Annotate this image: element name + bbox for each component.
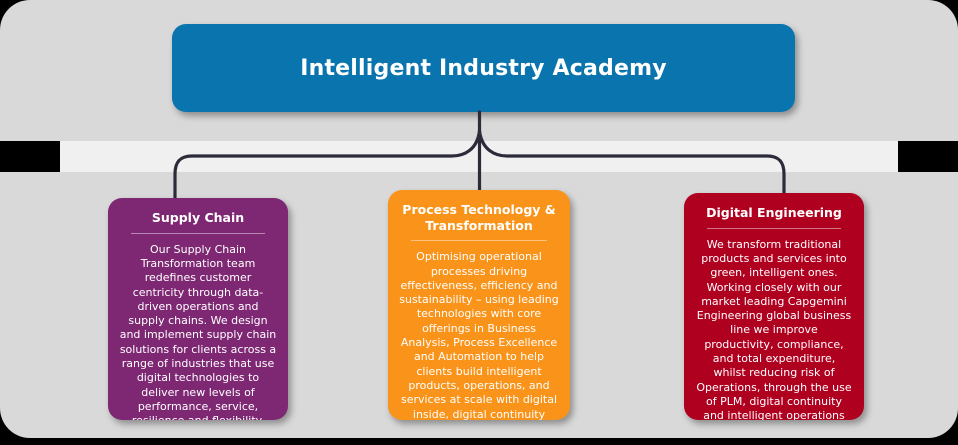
card-digital-engineering[interactable]: Digital Engineering We transform traditi… xyxy=(684,193,864,420)
card-divider xyxy=(411,240,547,241)
card-process-technology-transformation[interactable]: Process Technology & Transformation Opti… xyxy=(388,190,570,420)
card-title: Process Technology & Transformation xyxy=(399,202,559,233)
card-body: Our Supply Chain Transformation team red… xyxy=(119,243,277,420)
card-body: We transform traditional products and se… xyxy=(695,238,853,420)
card-divider xyxy=(707,228,841,229)
card-title: Supply Chain xyxy=(119,210,277,226)
card-divider xyxy=(131,233,265,234)
diagram-canvas: Intelligent Industry Academy Supply Chai… xyxy=(0,0,958,445)
card-supply-chain[interactable]: Supply Chain Our Supply Chain Transforma… xyxy=(108,198,288,420)
root-node-intelligent-industry-academy[interactable]: Intelligent Industry Academy xyxy=(172,24,795,112)
card-body: Optimising operational processes driving… xyxy=(399,250,559,420)
card-title: Digital Engineering xyxy=(695,205,853,221)
background-panel-middle-strip xyxy=(60,141,898,172)
root-node-title: Intelligent Industry Academy xyxy=(300,56,667,81)
